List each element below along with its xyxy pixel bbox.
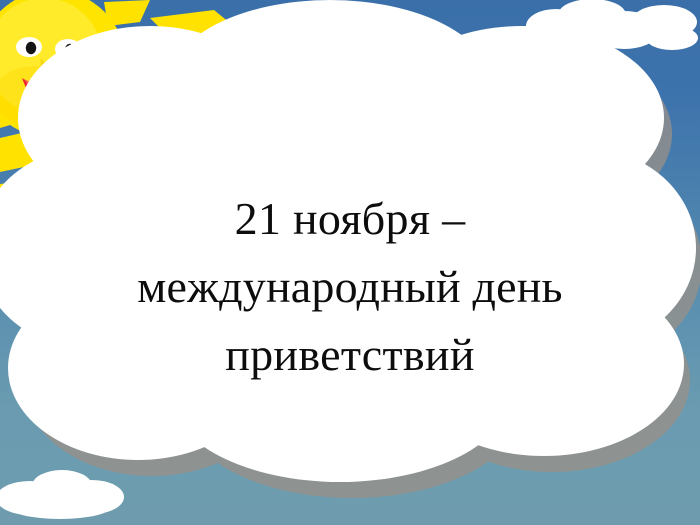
title-line-1: 21 ноября – xyxy=(0,196,700,242)
slide-canvas: 21 ноября – международный день приветств… xyxy=(0,0,700,525)
slide-title-text: 21 ноября – международный день приветств… xyxy=(0,196,700,378)
title-line-2: международный день xyxy=(0,264,700,310)
title-line-3: приветствий xyxy=(0,332,700,378)
